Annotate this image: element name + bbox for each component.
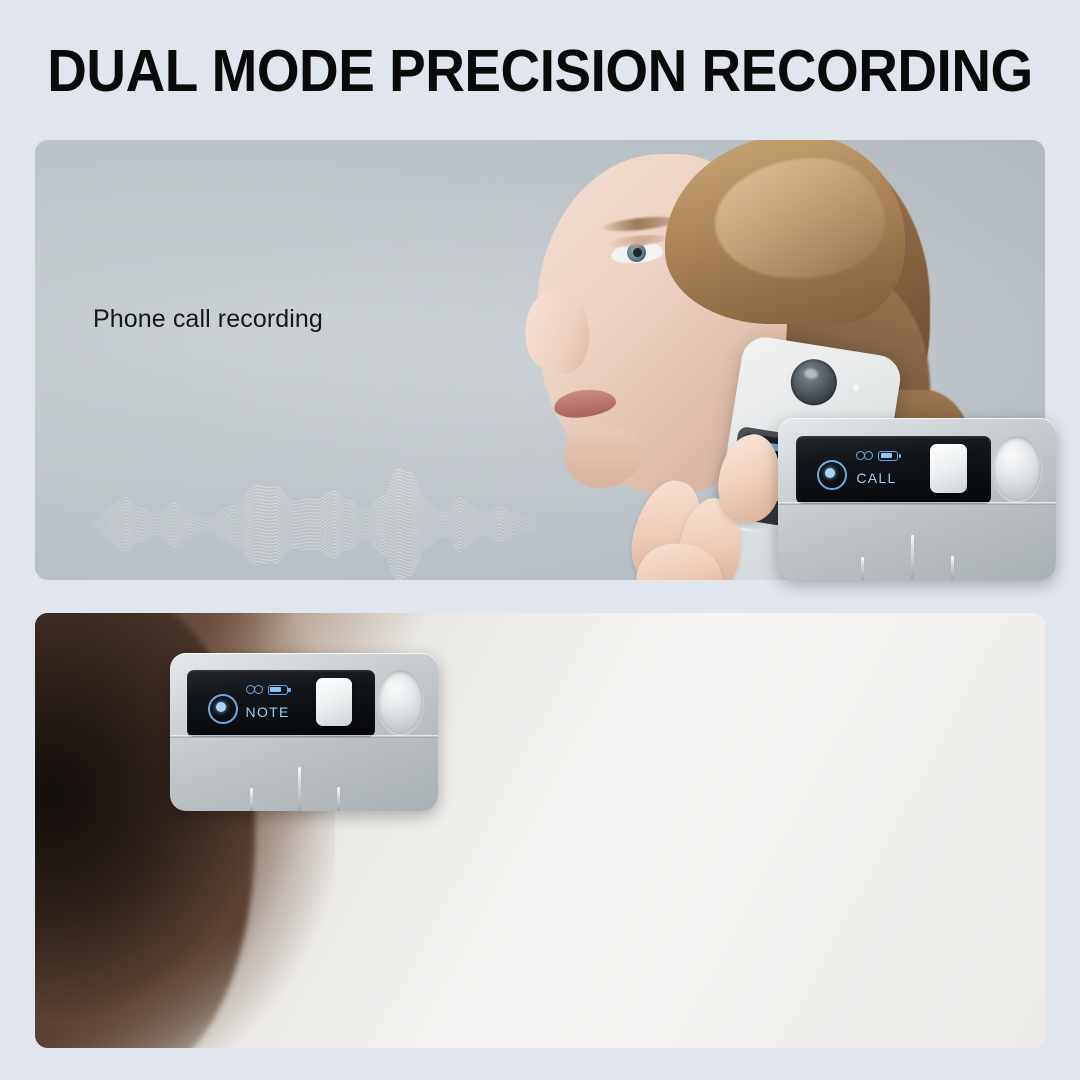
thumb-pressing-button [715,431,786,525]
mode-label: CALL [856,470,896,486]
callout-recorder-note: NOTE [170,653,438,811]
body-seam [170,735,438,738]
recorder-zoom-note: NOTE [170,653,438,811]
battery-icon [268,685,288,695]
callout-recorder-call: CALL [778,418,1056,580]
link-icon [856,451,873,460]
battery-icon [878,451,898,461]
phone-camera-icon [788,356,841,409]
recorder-clip [229,754,379,811]
record-dot-icon [817,460,847,490]
recorder-zoom-call: CALL [778,418,1056,580]
link-icon [246,685,263,694]
recorder-side-dial[interactable] [378,670,424,733]
audio-waveform-graphic [90,460,540,580]
mode-label: NOTE [246,704,290,720]
page-title: DUAL MODE PRECISION RECORDING [38,37,1042,105]
product-feature-page: DUAL MODE PRECISION RECORDING [0,0,1080,1080]
recorder-clip [839,522,995,580]
recorder-main-button[interactable] [316,678,352,725]
recorder-main-button[interactable] [930,444,968,493]
status-icon-row [246,685,288,695]
recorder-side-dial[interactable] [993,436,1040,501]
body-seam [778,502,1056,505]
panel-label-phone-call: Phone call recording [93,305,323,334]
record-dot-icon [208,694,238,724]
phone-flash-icon [850,381,863,394]
status-icon-row [856,451,898,461]
